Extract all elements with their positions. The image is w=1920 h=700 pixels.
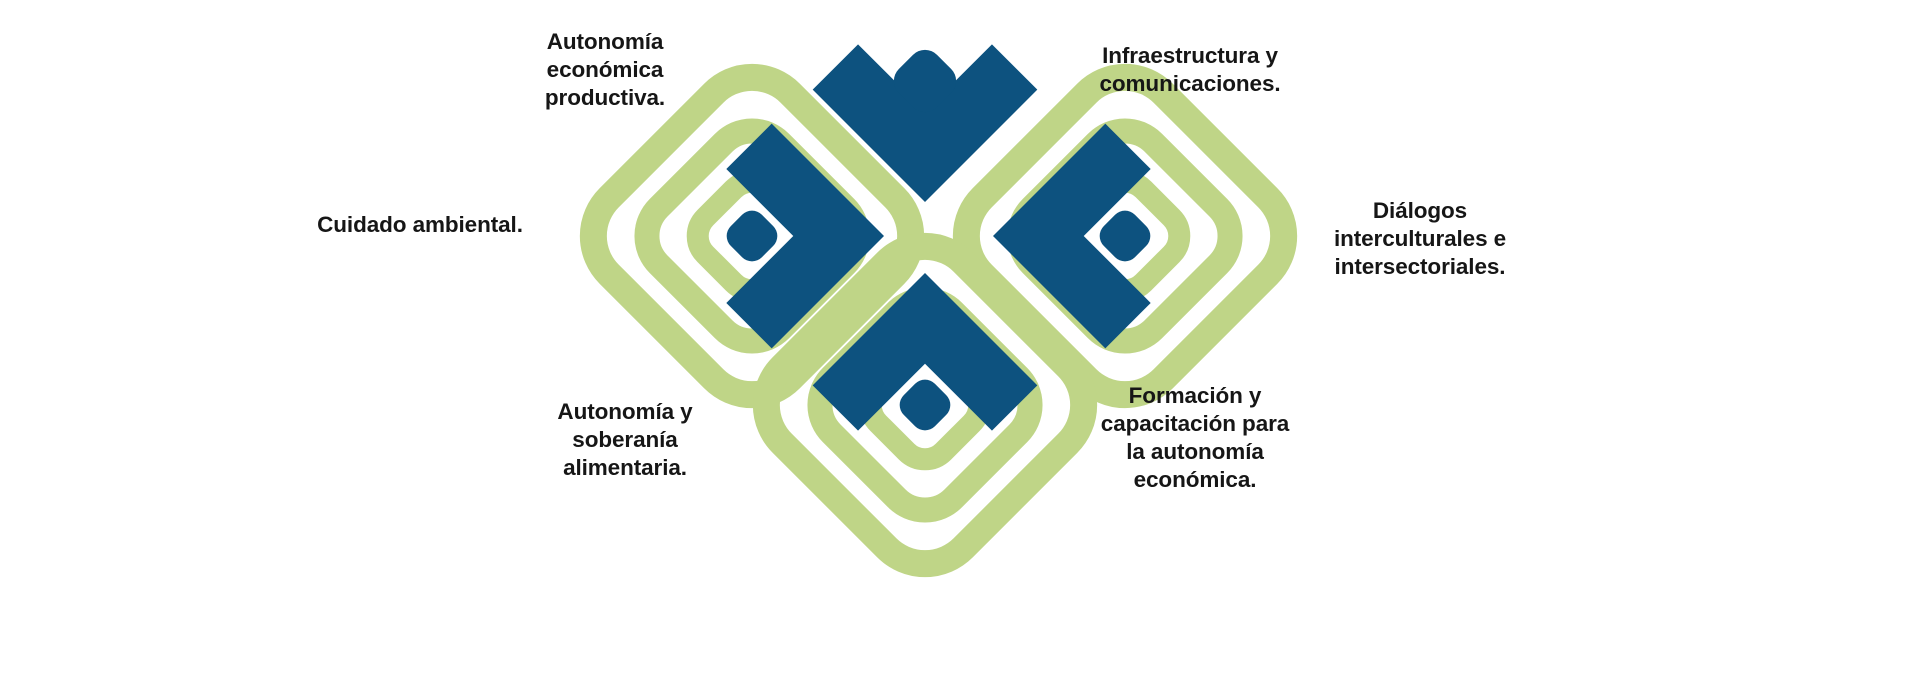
label-autonomia-economica-productiva: Autonomía económica productiva. — [490, 28, 720, 112]
diagram-root: Autonomía económica productiva. Infraest… — [0, 0, 1920, 700]
label-infraestructura-comunicaciones: Infraestructura y comunicaciones. — [1075, 42, 1305, 98]
emblem-graphic — [0, 0, 1920, 700]
label-formacion-capacitacion: Formación y capacitación para la autonom… — [1080, 382, 1310, 494]
label-dialogos-interculturales: Diálogos interculturales e intersectoria… — [1305, 197, 1535, 281]
label-cuidado-ambiental: Cuidado ambiental. — [280, 211, 560, 239]
label-autonomia-soberania-alimentaria: Autonomía y soberanía alimentaria. — [520, 398, 730, 482]
emblem-svg — [0, 0, 1920, 700]
